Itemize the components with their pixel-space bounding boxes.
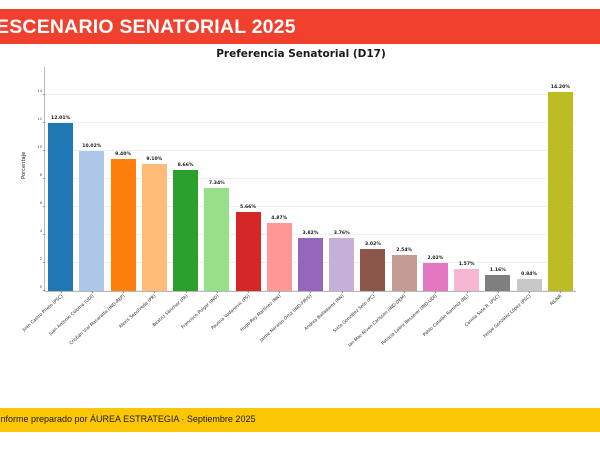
bar[interactable] (392, 255, 417, 291)
bar[interactable] (298, 238, 323, 291)
x-tick-mark (498, 291, 499, 293)
bar-group: 3.02%Sixto González Soto (PC) (357, 67, 388, 291)
x-tick-mark (154, 291, 155, 293)
bar-group: 9.40%Cristián Vial Macaratta (IND-REP) (107, 67, 138, 291)
bar-value-label: 1.57% (459, 262, 475, 267)
y-axis-label: Porcentaje (21, 152, 27, 179)
bar[interactable] (548, 92, 573, 291)
y-tick-label: 6 (40, 201, 42, 205)
footer-banner: Informe preparado por ÁUREA ESTRATEGIA ·… (0, 408, 600, 432)
bar[interactable] (485, 275, 510, 291)
bar[interactable] (173, 170, 198, 291)
y-tick-label: 12 (38, 117, 42, 121)
bar-group: 12.01%Juan Castro Prieto (PSC) (45, 67, 76, 291)
x-tick-mark (435, 291, 436, 293)
bar-value-label: 1.16% (490, 268, 506, 273)
x-tick-label: Jaime Naranjo Ortiz (IND-FRVS) (260, 294, 314, 343)
bar-value-label: 4.87% (271, 216, 287, 221)
bar-value-label: 14.20% (551, 85, 570, 90)
x-tick-mark (342, 291, 343, 293)
y-tick-label: 10 (38, 145, 42, 149)
bar-group: 1.16%Camila Soto R. (PSC) (482, 67, 513, 291)
bar-group: 9.10%Alexis Sepúlveda (PR) (139, 67, 170, 291)
bar-value-label: 3.02% (365, 242, 381, 247)
bar-value-label: 12.01% (51, 116, 70, 121)
chart-title: Preferencia Senatorial (D17) (18, 48, 584, 60)
bar-group: 8.66%Beatriz Sánchez (PA) (170, 67, 201, 291)
bar[interactable] (79, 151, 104, 291)
bar-value-label: 3.76% (334, 231, 350, 236)
bar-value-label: 3.82% (303, 231, 319, 236)
page-title: ESCENARIO SENATORIAL 2025 (0, 16, 296, 39)
y-tick-label: 8 (40, 173, 42, 177)
bar[interactable] (517, 279, 542, 291)
bar-group: 3.82%Jaime Naranjo Ortiz (IND-FRVS) (295, 67, 326, 291)
x-tick-mark (248, 291, 249, 293)
bar-value-label: 9.10% (146, 157, 162, 162)
x-tick-label: Patricia Labra Besserer (IND-UDI) (381, 294, 439, 346)
x-tick-mark (279, 291, 280, 293)
x-tick-label: Cristián Vial Macaratta (IND-REP) (69, 294, 126, 346)
bar-value-label: 9.40% (115, 152, 131, 157)
bar-value-label: 8.66% (178, 163, 194, 168)
bar-value-label: 10.02% (82, 144, 101, 149)
bar-value-label: 0.84% (521, 272, 537, 277)
x-tick-mark (404, 291, 405, 293)
bar[interactable] (204, 188, 229, 291)
plot-area: 02468101214 12.01%Juan Castro Prieto (PS… (44, 67, 576, 292)
bar-value-label: 7.34% (209, 181, 225, 186)
x-tick-mark (123, 291, 124, 293)
x-tick-mark (373, 291, 374, 293)
bar[interactable] (360, 249, 385, 291)
slide-canvas: ESCENARIO SENATORIAL 2025 Preferencia Se… (0, 0, 600, 450)
bar-value-label: 5.66% (240, 205, 256, 210)
x-tick-label: NS/NR (550, 294, 564, 307)
bar[interactable] (423, 263, 448, 291)
bar[interactable] (454, 269, 479, 291)
x-tick-mark (529, 291, 530, 293)
bar[interactable] (111, 159, 136, 291)
y-tick-label: 0 (40, 285, 42, 289)
bar[interactable] (236, 212, 261, 291)
header-banner: ESCENARIO SENATORIAL 2025 (0, 9, 600, 44)
y-tick-label: 2 (40, 257, 42, 261)
bar-group: 10.02%Juan Antonio Coloma (UDI) (76, 67, 107, 291)
bar[interactable] (142, 164, 167, 291)
bar-group: 2.54%Ian Mac-Niven Carlsson (IND-DEM) (389, 67, 420, 291)
bar-value-label: 2.02% (427, 256, 443, 261)
bar-group: 4.87%Hugo Rey Martínez (RN) (264, 67, 295, 291)
footer-text: Informe preparado por ÁUREA ESTRATEGIA ·… (0, 414, 255, 424)
bar[interactable] (267, 223, 292, 291)
bar-group: 1.57%Pablo Catalán Ramírez (NL) (451, 67, 482, 291)
bar[interactable] (48, 123, 73, 291)
bar-group: 5.66%Paulina Vodanovic (PS) (232, 67, 263, 291)
bar[interactable] (329, 238, 354, 291)
y-tick-label: 4 (40, 229, 42, 233)
bar-group: 0.84%Felipe González López (PSC) (514, 67, 545, 291)
x-tick-mark (310, 291, 311, 293)
bar-value-label: 2.54% (396, 248, 412, 253)
bar-group: 14.20%NS/NR (545, 67, 576, 291)
bar-group: 3.76%Andrea Balladares (RN) (326, 67, 357, 291)
bar-group: 7.34%Francisco Pulgar (IND) (201, 67, 232, 291)
bar-group: 2.02%Patricia Labra Besserer (IND-UDI) (420, 67, 451, 291)
y-tick-label: 14 (38, 89, 42, 93)
chart-container: Preferencia Senatorial (D17) Porcentaje … (18, 46, 584, 391)
x-tick-label: Ian Mac-Niven Carlsson (IND-DEM) (348, 294, 408, 348)
x-tick-mark (560, 291, 561, 293)
